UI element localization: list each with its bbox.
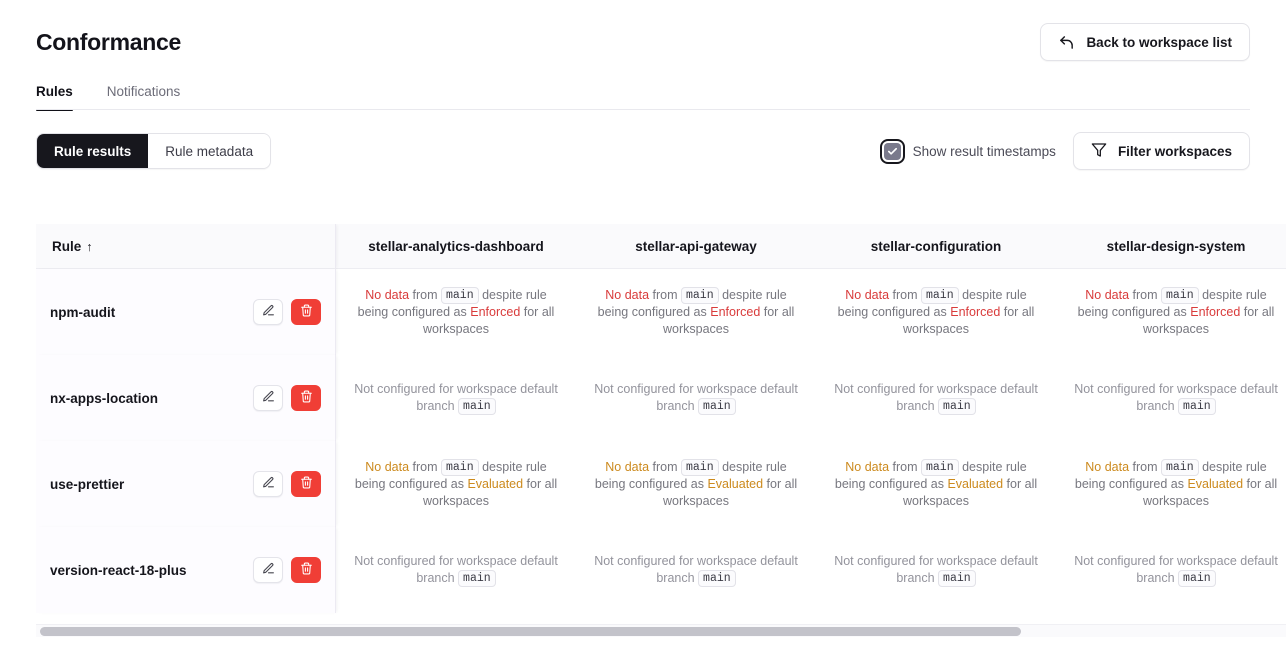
branch-tag: main	[698, 398, 736, 415]
column-header-workspace[interactable]: stellar-api-gateway	[576, 224, 816, 269]
checkbox-checked-icon[interactable]	[884, 143, 901, 160]
back-arrow-icon	[1058, 34, 1075, 51]
rule-name-cell: npm-audit	[36, 269, 336, 355]
branch-tag: main	[441, 287, 479, 304]
rule-actions	[253, 385, 321, 411]
rule-name: use-prettier	[50, 476, 124, 493]
cell-status-message: No data from main despite rule being con…	[590, 287, 802, 338]
trash-icon	[300, 562, 313, 578]
result-cell: Not configured for workspace default bra…	[816, 355, 1056, 441]
edit-rule-button[interactable]	[253, 385, 283, 411]
rule-actions	[253, 557, 321, 583]
table-row: use-prettierNo data from main despite ru…	[36, 441, 1286, 527]
rule-name-cell: version-react-18-plus	[36, 527, 336, 613]
cell-status-message: Not configured for workspace default bra…	[830, 381, 1042, 415]
branch-tag: main	[921, 287, 959, 304]
no-data-label: No data	[845, 460, 889, 474]
branch-tag: main	[938, 570, 976, 587]
branch-tag: main	[1178, 398, 1216, 415]
trash-icon	[300, 304, 313, 320]
delete-rule-button[interactable]	[291, 385, 321, 411]
rule-status-word: Enforced	[950, 305, 1000, 319]
column-header-workspace-label: stellar-analytics-dashboard	[368, 239, 544, 254]
cell-status-message: No data from main despite rule being con…	[350, 459, 562, 510]
branch-tag: main	[698, 570, 736, 587]
edit-pencil-icon	[262, 304, 275, 320]
column-header-workspace[interactable]: stellar-configuration	[816, 224, 1056, 269]
toolbar-right-group: Show result timestamps Filter workspaces	[881, 132, 1250, 170]
back-to-workspace-list-button[interactable]: Back to workspace list	[1040, 23, 1250, 61]
column-header-rule[interactable]: Rule↑	[36, 224, 336, 269]
result-cell: Not configured for workspace default bra…	[1056, 527, 1286, 613]
view-segmented-control: Rule results Rule metadata	[36, 133, 271, 169]
table-row: nx-apps-locationNot configured for works…	[36, 355, 1286, 441]
tab-rules[interactable]: Rules	[36, 84, 91, 110]
result-cell: No data from main despite rule being con…	[816, 441, 1056, 527]
rules-table: Rule↑ stellar-analytics-dashboardstellar…	[36, 224, 1286, 613]
rule-name-cell: use-prettier	[36, 441, 336, 527]
tab-bar: Rules Notifications	[0, 84, 1286, 110]
cell-status-message: No data from main despite rule being con…	[1070, 287, 1282, 338]
rule-actions	[253, 471, 321, 497]
trash-icon	[300, 476, 313, 492]
no-data-label: No data	[605, 460, 649, 474]
column-header-workspace-label: stellar-api-gateway	[635, 239, 757, 254]
branch-tag: main	[681, 287, 719, 304]
rule-name: nx-apps-location	[50, 390, 158, 407]
column-header-workspace[interactable]: stellar-design-system	[1056, 224, 1286, 269]
cell-status-message: No data from main despite rule being con…	[590, 459, 802, 510]
cell-status-message: Not configured for workspace default bra…	[1070, 381, 1282, 415]
horizontal-scrollbar-track[interactable]	[36, 624, 1286, 637]
result-cell: Not configured for workspace default bra…	[1056, 355, 1286, 441]
no-data-label: No data	[845, 288, 889, 302]
column-header-workspace[interactable]: stellar-analytics-dashboard	[336, 224, 576, 269]
table-row: npm-auditNo data from main despite rule …	[36, 269, 1286, 355]
result-cell: No data from main despite rule being con…	[576, 269, 816, 355]
branch-tag: main	[441, 459, 479, 476]
cell-status-message: Not configured for workspace default bra…	[590, 381, 802, 415]
result-cell: No data from main despite rule being con…	[1056, 269, 1286, 355]
table-header-row: Rule↑ stellar-analytics-dashboardstellar…	[36, 224, 1286, 269]
filter-workspaces-button[interactable]: Filter workspaces	[1073, 132, 1250, 170]
cell-status-message: Not configured for workspace default bra…	[590, 553, 802, 587]
rule-actions	[253, 299, 321, 325]
branch-tag: main	[1161, 459, 1199, 476]
no-data-label: No data	[605, 288, 649, 302]
no-data-label: No data	[365, 460, 409, 474]
filter-workspaces-label: Filter workspaces	[1118, 144, 1232, 159]
result-cell: No data from main despite rule being con…	[1056, 441, 1286, 527]
cell-status-message: Not configured for workspace default bra…	[830, 553, 1042, 587]
edit-rule-button[interactable]	[253, 299, 283, 325]
branch-tag: main	[938, 398, 976, 415]
rules-table-region: Rule↑ stellar-analytics-dashboardstellar…	[36, 224, 1286, 667]
tab-divider	[36, 109, 1250, 110]
branch-tag: main	[921, 459, 959, 476]
no-data-label: No data	[1085, 460, 1129, 474]
branch-tag: main	[458, 398, 496, 415]
no-data-label: No data	[365, 288, 409, 302]
edit-pencil-icon	[262, 390, 275, 406]
branch-tag: main	[1178, 570, 1216, 587]
result-cell: Not configured for workspace default bra…	[576, 527, 816, 613]
horizontal-scrollbar-thumb[interactable]	[40, 627, 1021, 636]
result-cell: Not configured for workspace default bra…	[576, 355, 816, 441]
cell-status-message: Not configured for workspace default bra…	[350, 381, 562, 415]
cell-status-message: Not configured for workspace default bra…	[1070, 553, 1282, 587]
result-cell: No data from main despite rule being con…	[336, 441, 576, 527]
table-header: Rule↑ stellar-analytics-dashboardstellar…	[36, 224, 1286, 269]
cell-status-message: Not configured for workspace default bra…	[350, 553, 562, 587]
edit-rule-button[interactable]	[253, 471, 283, 497]
result-cell: No data from main despite rule being con…	[816, 269, 1056, 355]
page-header: Conformance Back to workspace list	[0, 0, 1286, 62]
delete-rule-button[interactable]	[291, 471, 321, 497]
delete-rule-button[interactable]	[291, 557, 321, 583]
branch-tag: main	[458, 570, 496, 587]
rule-status-word: Enforced	[710, 305, 760, 319]
no-data-label: No data	[1085, 288, 1129, 302]
cell-status-message: No data from main despite rule being con…	[830, 459, 1042, 510]
sort-ascending-icon: ↑	[86, 240, 92, 254]
edit-rule-button[interactable]	[253, 557, 283, 583]
edit-pencil-icon	[262, 562, 275, 578]
tab-notifications[interactable]: Notifications	[91, 84, 197, 110]
column-header-workspace-label: stellar-design-system	[1107, 239, 1246, 254]
table-body: npm-auditNo data from main despite rule …	[36, 269, 1286, 613]
show-result-timestamps-label: Show result timestamps	[913, 144, 1056, 159]
cell-status-message: No data from main despite rule being con…	[1070, 459, 1282, 510]
rule-status-word: Evaluated	[707, 477, 763, 491]
trash-icon	[300, 390, 313, 406]
toolbar: Rule results Rule metadata Show result t…	[0, 110, 1286, 170]
rule-name-cell: nx-apps-location	[36, 355, 336, 441]
result-cell: No data from main despite rule being con…	[336, 269, 576, 355]
back-button-label: Back to workspace list	[1086, 35, 1232, 50]
show-result-timestamps-toggle[interactable]: Show result timestamps	[881, 140, 1056, 163]
column-header-rule-label: Rule	[52, 239, 81, 254]
column-header-workspace-label: stellar-configuration	[871, 239, 1002, 254]
result-cell: No data from main despite rule being con…	[576, 441, 816, 527]
rule-name: npm-audit	[50, 304, 115, 321]
segment-rule-metadata[interactable]: Rule metadata	[148, 134, 270, 168]
table-row: version-react-18-plusNot configured for …	[36, 527, 1286, 613]
page-title: Conformance	[36, 29, 181, 56]
edit-pencil-icon	[262, 476, 275, 492]
rule-status-word: Evaluated	[1187, 477, 1243, 491]
rule-status-word: Enforced	[470, 305, 520, 319]
result-cell: Not configured for workspace default bra…	[336, 527, 576, 613]
funnel-icon	[1091, 142, 1107, 161]
rule-status-word: Enforced	[1190, 305, 1240, 319]
segment-rule-results[interactable]: Rule results	[37, 134, 148, 168]
rule-status-word: Evaluated	[947, 477, 1003, 491]
result-cell: Not configured for workspace default bra…	[816, 527, 1056, 613]
rule-name: version-react-18-plus	[50, 562, 187, 579]
cell-status-message: No data from main despite rule being con…	[350, 287, 562, 338]
delete-rule-button[interactable]	[291, 299, 321, 325]
branch-tag: main	[681, 459, 719, 476]
cell-status-message: No data from main despite rule being con…	[830, 287, 1042, 338]
rule-status-word: Evaluated	[467, 477, 523, 491]
conformance-page: Conformance Back to workspace list Rules…	[0, 0, 1286, 667]
result-cell: Not configured for workspace default bra…	[336, 355, 576, 441]
branch-tag: main	[1161, 287, 1199, 304]
